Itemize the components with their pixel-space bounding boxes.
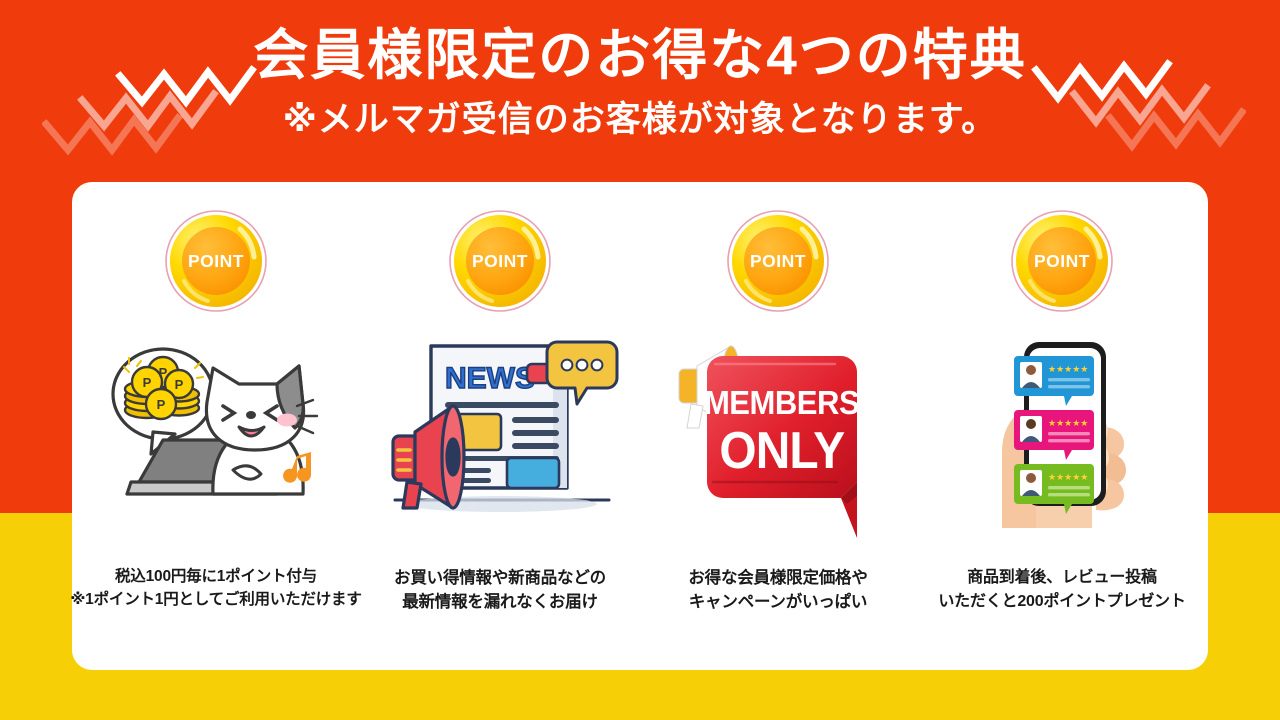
point-badge-label: POINT (472, 251, 528, 271)
point-badge-label: POINT (1034, 251, 1090, 271)
illustration-hand-phone-reviews: ★★★★★ ★★★★★ (920, 332, 1204, 562)
banner-header: 会員様限定のお得な4つの特典 ※メルマガ受信のお客様が対象となります。 (0, 0, 1280, 182)
page-title: 会員様限定のお得な4つの特典 (0, 27, 1280, 85)
page-subtitle: ※メルマガ受信のお客様が対象となります。 (0, 101, 1280, 140)
benefit-column-4: POINT (920, 182, 1204, 670)
benefit-caption-3: お得な会員様限定価格や キャンペーンがいっぱい (630, 566, 926, 615)
svg-text:P: P (159, 365, 168, 380)
benefit-column-3: POINT (636, 182, 920, 670)
benefit-caption-2: お買い得情報や新商品などの 最新情報を漏れなくお届け (352, 566, 648, 615)
benefit-column-1: POINT (74, 182, 358, 670)
point-badge-label: POINT (750, 251, 806, 271)
svg-text:P: P (157, 397, 166, 412)
point-badge-icon: POINT (164, 209, 268, 313)
svg-text:★★★★★: ★★★★★ (1048, 419, 1088, 429)
benefit-column-2: POINT NEWS (358, 182, 642, 670)
svg-text:★★★★★: ★★★★★ (1048, 473, 1088, 483)
benefit-caption-4: 商品到着後、レビュー投稿 いただくと200ポイントプレゼント (914, 566, 1210, 613)
illustration-members-only-banner: MEMBERS ONLY (636, 332, 920, 562)
point-badge-icon: POINT (448, 209, 552, 313)
benefits-card: POINT (72, 182, 1208, 670)
svg-text:P: P (175, 377, 184, 392)
benefit-caption-1: 税込100円毎に1ポイント付与 ※1ポイント1円としてご利用いただけます (68, 566, 364, 612)
point-badge-icon: POINT (726, 209, 830, 313)
point-badge-icon: POINT (1010, 209, 1114, 313)
point-badge-label: POINT (188, 251, 244, 271)
news-headline: NEWS (445, 362, 535, 395)
illustration-cat-with-laptop: PPPP (74, 332, 358, 562)
illustration-news-megaphone: NEWS (358, 332, 642, 562)
promo-banner: 会員様限定のお得な4つの特典 ※メルマガ受信のお客様が対象となります。 (0, 0, 1280, 720)
svg-text:P: P (143, 375, 152, 390)
members-only-line2: ONLY (719, 421, 844, 479)
svg-text:★★★★★: ★★★★★ (1048, 365, 1088, 375)
members-only-line1: MEMBERS (704, 384, 859, 421)
